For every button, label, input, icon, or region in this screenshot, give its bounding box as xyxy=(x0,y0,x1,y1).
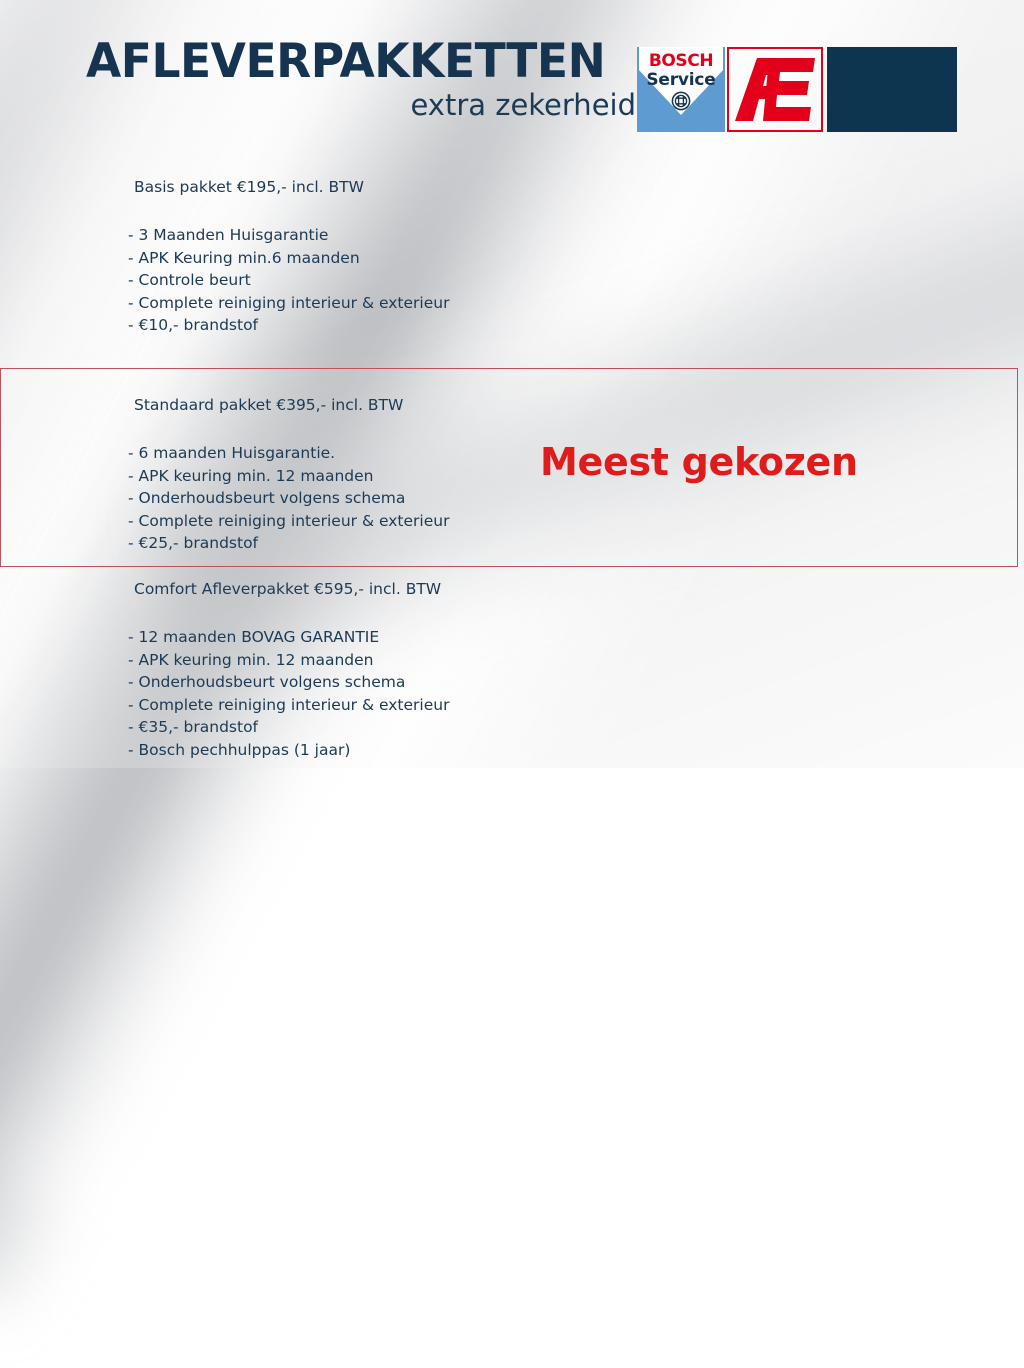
list-item: - APK Keuring min.6 maanden xyxy=(128,247,1024,270)
page-subtitle: extra zekerheid xyxy=(86,88,636,122)
list-item: - €10,- brandstof xyxy=(128,314,1024,337)
list-item: - 3 Maanden Huisgarantie xyxy=(128,224,1024,247)
bosch-service-label: Service xyxy=(637,70,725,90)
list-item: - 6 maanden Huisgarantie. xyxy=(128,442,1024,465)
package-basis: Basis pakket €195,- incl. BTW - 3 Maande… xyxy=(0,176,1024,337)
list-item: - €25,- brandstof xyxy=(128,532,1024,555)
package-standaard: Standaard pakket €395,- incl. BTW - 6 ma… xyxy=(0,394,1024,555)
list-item: - Complete reiniging interieur & exterie… xyxy=(128,510,1024,533)
page-title: AFLEVERPAKKETTEN xyxy=(86,38,620,86)
list-item: - APK keuring min. 12 maanden xyxy=(128,649,1024,672)
list-item: - Onderhoudsbeurt volgens schema xyxy=(128,671,1024,694)
package-title: Comfort Afleverpakket €595,- incl. BTW xyxy=(134,578,1024,600)
brand-block: AFLEVERPAKKETTEN extra zekerheid xyxy=(86,38,636,122)
list-item: - 12 maanden BOVAG GARANTIE xyxy=(128,626,1024,649)
list-item: - Controle beurt xyxy=(128,269,1024,292)
bosch-service-logo: BOSCH Service xyxy=(637,47,725,132)
list-item: - €35,- brandstof xyxy=(128,716,1024,739)
list-item: - Complete reiniging interieur & exterie… xyxy=(128,292,1024,315)
package-feature-list: - 12 maanden BOVAG GARANTIE - APK keurin… xyxy=(128,626,1024,761)
list-item: - Bosch pechhulppas (1 jaar) xyxy=(128,739,1024,762)
ae-logo xyxy=(727,47,823,132)
ae-monogram-icon xyxy=(733,55,817,124)
package-title: Basis pakket €195,- incl. BTW xyxy=(134,176,1024,198)
package-feature-list: - 6 maanden Huisgarantie. - APK keuring … xyxy=(128,442,1024,555)
bosch-wordmark: BOSCH xyxy=(637,51,725,71)
bosch-armature-icon xyxy=(671,91,691,111)
package-comfort: Comfort Afleverpakket €595,- incl. BTW -… xyxy=(0,578,1024,761)
list-item: - Complete reiniging interieur & exterie… xyxy=(128,694,1024,717)
list-item: - APK keuring min. 12 maanden xyxy=(128,465,1024,488)
package-feature-list: - 3 Maanden Huisgarantie - APK Keuring m… xyxy=(128,224,1024,337)
list-item: - Onderhoudsbeurt volgens schema xyxy=(128,487,1024,510)
page-header: AFLEVERPAKKETTEN extra zekerheid BOSCH S… xyxy=(0,0,1024,150)
package-title: Standaard pakket €395,- incl. BTW xyxy=(134,394,1024,416)
navy-plate-logo xyxy=(827,47,957,132)
